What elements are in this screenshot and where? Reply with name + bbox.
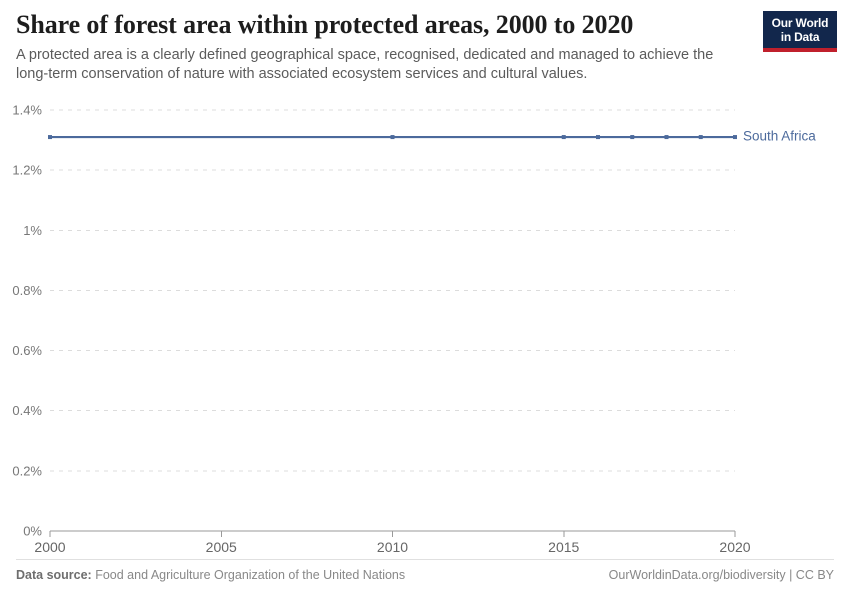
x-tick-label: 2000 — [34, 539, 65, 555]
owid-logo[interactable]: Our World in Data — [763, 11, 837, 52]
chart-plot-area: 0%0.2%0.4%0.6%0.8%1%1.2%1.4% 20002005201… — [0, 0, 850, 600]
y-tick-label: 1.2% — [12, 163, 42, 178]
data-source-label: Data source: — [16, 568, 92, 582]
data-point-marker[interactable] — [699, 135, 703, 139]
y-tick-label: 1.4% — [12, 103, 42, 118]
y-tick-label: 0.8% — [12, 283, 42, 298]
gridlines — [50, 110, 735, 471]
data-source-text: Food and Agriculture Organization of the… — [95, 568, 405, 582]
data-point-marker[interactable] — [733, 135, 737, 139]
x-axis-tick-labels: 20002005201020152020 — [34, 539, 750, 555]
owid-logo-line-1: Our World — [766, 16, 834, 30]
data-point-marker[interactable] — [391, 135, 395, 139]
chart-footer: Data source: Food and Agriculture Organi… — [16, 568, 834, 582]
x-tick-label: 2020 — [719, 539, 750, 555]
data-point-marker[interactable] — [562, 135, 566, 139]
data-series-group: South Africa — [48, 129, 816, 144]
footer-divider — [16, 559, 834, 560]
y-tick-label: 1% — [23, 223, 42, 238]
owid-logo-line-2: in Data — [766, 30, 834, 44]
data-source: Data source: Food and Agriculture Organi… — [16, 568, 405, 582]
chart-subtitle: A protected area is a clearly defined ge… — [16, 46, 728, 84]
x-tick-label: 2005 — [206, 539, 237, 555]
data-point-marker[interactable] — [596, 135, 600, 139]
y-tick-label: 0.4% — [12, 403, 42, 418]
series-label-south-africa[interactable]: South Africa — [743, 129, 816, 144]
y-axis-tick-labels: 0%0.2%0.4%0.6%0.8%1%1.2%1.4% — [12, 103, 42, 539]
data-point-marker[interactable] — [48, 135, 52, 139]
chart-header: Share of forest area within protected ar… — [16, 10, 756, 84]
y-tick-label: 0% — [23, 524, 42, 539]
x-tick-label: 2010 — [377, 539, 408, 555]
x-tick-label: 2015 — [548, 539, 579, 555]
x-axis — [50, 531, 735, 537]
data-point-marker[interactable] — [630, 135, 634, 139]
attribution-link[interactable]: OurWorldinData.org/biodiversity | CC BY — [609, 568, 834, 582]
page-title: Share of forest area within protected ar… — [16, 10, 756, 40]
owid-chart: Share of forest area within protected ar… — [0, 0, 850, 600]
data-point-marker[interactable] — [665, 135, 669, 139]
y-tick-label: 0.2% — [12, 463, 42, 478]
y-tick-label: 0.6% — [12, 343, 42, 358]
